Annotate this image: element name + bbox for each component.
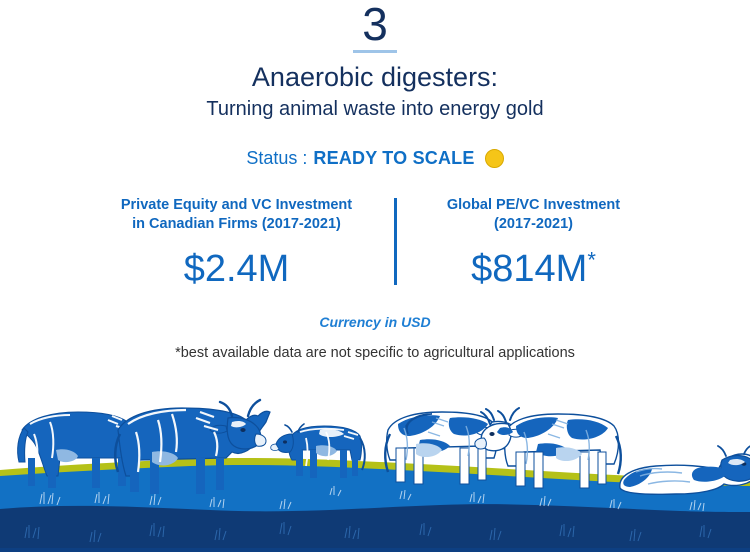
bottom-rule	[0, 548, 750, 552]
stat-value-left: $2.4M	[184, 247, 290, 291]
stat-value-right-amount: $814M	[471, 248, 587, 290]
status-dot-icon	[485, 149, 504, 168]
stat-heading-right-line1: Global PE/VC Investment	[447, 197, 620, 213]
cows-in-field-illustration	[0, 388, 750, 560]
stat-block-canadian-investment: Private Equity and VC Investment in Cana…	[80, 196, 394, 291]
currency-note: Currency in USD	[0, 312, 750, 332]
rank-number: 3	[0, 0, 750, 50]
rank-underline-rule	[353, 50, 397, 53]
stat-heading-right: Global PE/VC Investment (2017-2021)	[447, 196, 620, 234]
stat-heading-left: Private Equity and VC Investment in Cana…	[121, 196, 352, 234]
statistics-section: Private Equity and VC Investment in Cana…	[0, 196, 750, 291]
stat-block-global-investment: Global PE/VC Investment (2017-2021) $814…	[397, 196, 671, 291]
bottom-white-strip	[0, 552, 750, 560]
footnote-text: *best available data are not specific to…	[0, 343, 750, 363]
stat-heading-right-line2: (2017-2021)	[447, 215, 620, 234]
page-title: Anaerobic digesters:	[0, 60, 750, 94]
page-subtitle: Turning animal waste into energy gold	[0, 96, 750, 123]
stat-value-right-asterisk: *	[587, 247, 596, 272]
illustration-svg	[0, 388, 750, 560]
stat-heading-left-line1: Private Equity and VC Investment	[121, 197, 352, 213]
stat-value-left-amount: $2.4M	[184, 248, 290, 290]
status-row: Status : READY TO SCALE	[0, 146, 750, 170]
status-badge: READY TO SCALE	[313, 146, 474, 170]
stat-heading-left-line2: in Canadian Firms (2017-2021)	[121, 215, 352, 234]
status-label: Status :	[246, 146, 307, 170]
infographic-card: 3 Anaerobic digesters: Turning animal wa…	[0, 0, 750, 560]
stat-value-right: $814M*	[471, 247, 596, 291]
